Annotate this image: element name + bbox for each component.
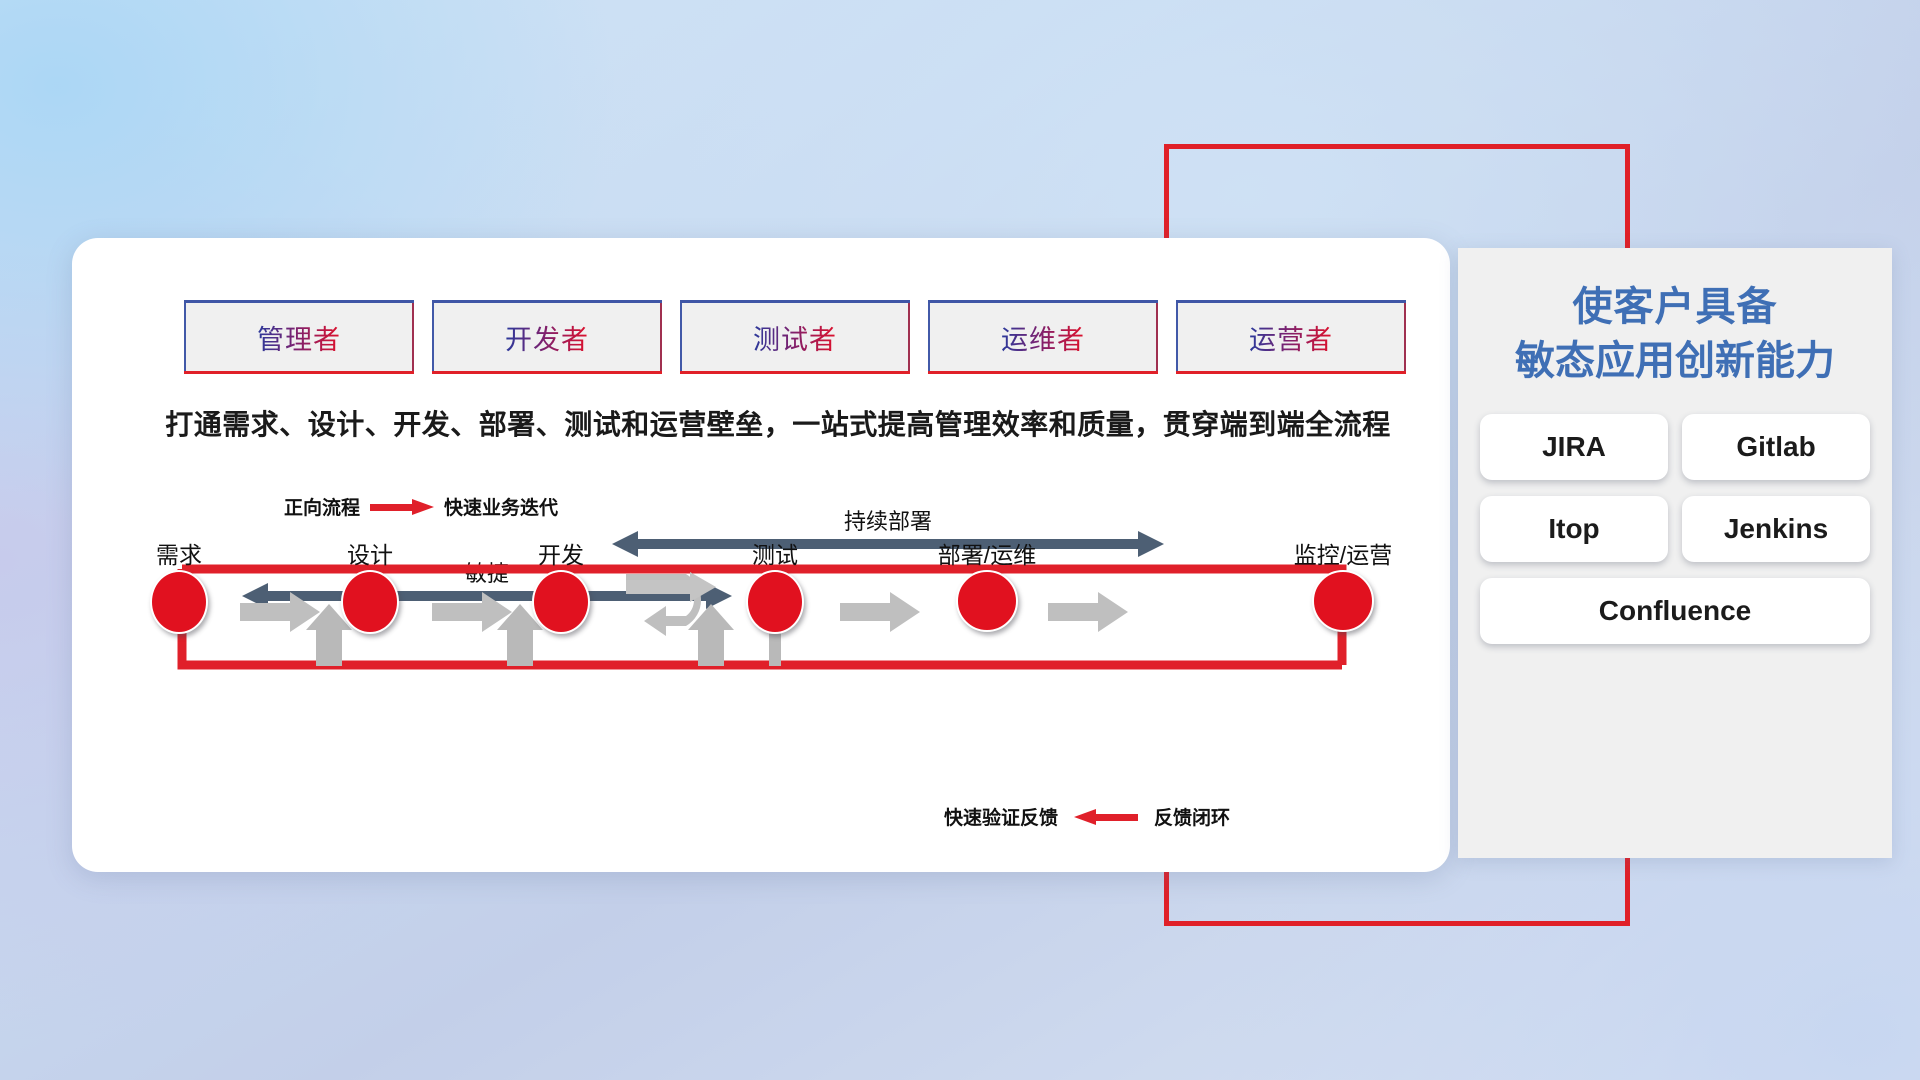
pipeline-node-label: 需求 — [156, 536, 202, 570]
value-panel-title-line2: 敏态应用创新能力 — [1458, 334, 1892, 388]
pipeline-node-development[interactable]: 开发 — [532, 570, 590, 634]
pipeline-node-deploy-ops[interactable]: 部署/运维 — [956, 570, 1018, 632]
pipeline-node-design[interactable]: 设计 — [341, 570, 399, 634]
tool-jenkins[interactable]: Jenkins — [1682, 496, 1870, 562]
pipeline-node-label: 测试 — [752, 536, 798, 570]
gray-arrow-icon — [240, 590, 320, 634]
value-panel: 使客户具备 敏态应用创新能力 JIRA Gitlab Itop Jenkins … — [1458, 248, 1892, 858]
pipeline-node-monitor-operation[interactable]: 监控/运营 — [1312, 570, 1374, 632]
pipeline-node-dot — [746, 570, 804, 634]
tool-confluence[interactable]: Confluence — [1480, 578, 1870, 644]
pipeline-node-label: 部署/运维 — [938, 536, 1036, 570]
tool-list: JIRA Gitlab Itop Jenkins Confluence — [1480, 414, 1870, 644]
pipeline-node-dot — [150, 570, 208, 634]
pipeline: 需求 设计 开发 测试 部署/运维 监控/运营 — [72, 238, 1450, 872]
gray-arrow-icon — [840, 590, 920, 634]
pipeline-node-dot — [532, 570, 590, 634]
pipeline-node-label: 设计 — [347, 536, 393, 570]
loop-arrow-icon — [624, 572, 732, 650]
tool-itop[interactable]: Itop — [1480, 496, 1668, 562]
tool-jira[interactable]: JIRA — [1480, 414, 1668, 480]
pipeline-node-dot — [341, 570, 399, 634]
main-diagram-card: 管理者 开发者 测试者 运维者 运营者 打通需求、设计、开发、部署、测试和运营壁… — [72, 238, 1450, 872]
pipeline-node-requirement[interactable]: 需求 — [150, 570, 208, 634]
gray-arrow-icon — [432, 590, 512, 634]
pipeline-node-dot — [956, 570, 1018, 632]
value-panel-title-line1: 使客户具备 — [1458, 280, 1892, 334]
tool-gitlab[interactable]: Gitlab — [1682, 414, 1870, 480]
pipeline-node-label: 监控/运营 — [1294, 536, 1392, 570]
value-panel-title: 使客户具备 敏态应用创新能力 — [1458, 280, 1892, 388]
gray-arrow-icon — [1048, 590, 1128, 634]
pipeline-node-dot — [1312, 570, 1374, 632]
pipeline-node-label: 开发 — [538, 536, 584, 570]
pipeline-node-testing[interactable]: 测试 — [746, 570, 804, 634]
